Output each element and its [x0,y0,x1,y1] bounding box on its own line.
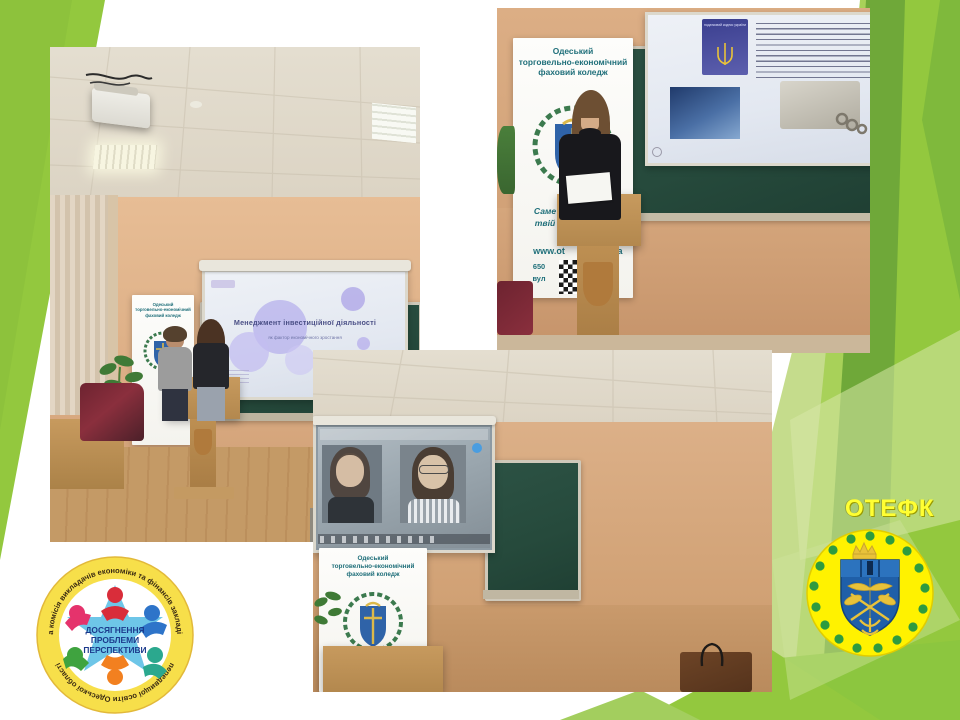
ceiling-light-panel [93,145,158,169]
commission-center-line-3: ПЕРСПЕКТИВИ [83,645,146,655]
banner-line2: торговельно-економічний [132,307,194,312]
commission-center-line-2: ПРОБЛЕМИ [91,635,139,645]
photo-online-participants[interactable]: Одеський торговельно-економічний фаховий… [313,350,772,692]
slide-body-text [756,20,870,78]
projector-cables [84,69,154,103]
participant-glasses [419,465,449,474]
podium-crest [194,429,212,455]
plant-photo2 [497,126,515,194]
banner3-line1: Одеський [319,555,427,563]
tax-code-book-heading: податковий кодекс україни [704,23,746,27]
podium-crest-photo2 [583,262,613,306]
projection-screen-photo2: податковий кодекс україни [645,12,870,166]
photo-speaker-podium[interactable]: податковий кодекс україни Одеський торго… [497,8,870,353]
plant-photo3 [313,586,343,666]
banner2-line2: торговельно-економічний [513,57,633,68]
projection-screen-photo3 [313,422,495,553]
banner3-line3: фаховий коледж [319,571,427,579]
coats-on-rack [80,383,144,441]
otefk-label: ОТЕФК [845,495,934,523]
commission-logo[interactable]: Методична комісія викладачів економіки т… [35,555,195,715]
banner2-line3: фаховий коледж [513,67,633,78]
speaker [553,88,625,258]
banner2-line1: Одеський [513,46,633,57]
coats-photo2 [497,281,533,335]
video-record-indicator [472,443,482,453]
ceiling-sensor [190,101,202,108]
banner2-addr1: 650 [521,262,557,272]
video-toolbar-top [320,429,488,440]
presenter-right [190,323,232,421]
slide-title-photo1: Менеджмент інвестиційної діяльності [209,318,401,327]
video-call-avatar-self [322,443,340,456]
trident-icon [714,41,736,67]
upper-window [372,103,416,144]
slide-subtitle-photo1: як фактор економічного зростання [227,335,383,340]
handbag-icon [694,636,730,670]
slide-canvas: Менеджмент інвестиційної діяльності як ф… [0,0,960,720]
college-emblem[interactable] [805,528,935,658]
speaker-papers [566,172,612,204]
chalkboard-photo3 [485,460,581,601]
commission-center-line-1: ДОСЯГНЕННЯ [85,625,144,635]
presenter-left [154,329,194,421]
banner-line3: фаховий коледж [132,313,194,318]
chain-icon [834,107,868,135]
banner3-line2: торговельно-економічний [319,563,427,571]
